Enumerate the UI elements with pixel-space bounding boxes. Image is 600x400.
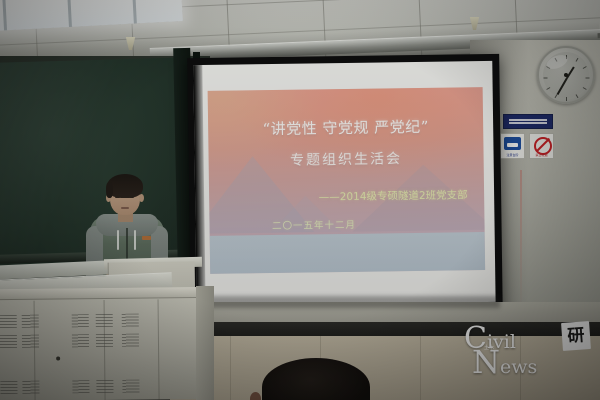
caution-step-sign: 注意台阶	[500, 133, 525, 159]
slide-organization: ——2014级专硕隧道2班党支部	[319, 187, 468, 204]
floor	[170, 336, 600, 400]
photo-scene: 注意台阶 禁止吸烟 “讲党性 守党规 严党纪” 专题组织生活会 ——2014	[0, 0, 600, 400]
front-cabinet	[0, 287, 209, 400]
step-icon	[504, 137, 521, 150]
presenter-hair	[107, 174, 143, 198]
wall-seam	[520, 170, 522, 310]
slide-date: 二〇一五年十二月	[209, 215, 484, 233]
notice-sign	[503, 114, 553, 129]
slide-title: “讲党性 守党规 严党纪”	[208, 115, 483, 140]
clock-hour-hand	[566, 66, 575, 78]
slide-subtitle: 专题组织生活会	[208, 147, 483, 171]
safety-sign-row: 注意台阶 禁止吸烟	[500, 133, 554, 159]
presentation-slide: “讲党性 守党规 严党纪” 专题组织生活会 ——2014级专硕隧道2班党支部 二…	[208, 87, 486, 274]
no-smoking-label: 禁止吸烟	[530, 153, 553, 158]
attendee-ear	[250, 392, 261, 400]
no-smoking-sign: 禁止吸烟	[529, 133, 554, 159]
caution-step-label: 注意台阶	[501, 153, 524, 158]
clock-minute-hand	[557, 78, 568, 95]
cabinet-side-panel	[196, 286, 214, 400]
wall-clock	[537, 46, 595, 104]
screen-surface: “讲党性 守党规 严党纪” 专题组织生活会 ——2014级专硕隧道2班党支部 二…	[193, 61, 495, 306]
projection-screen: “讲党性 守党规 严党纪” 专题组织生活会 ——2014级专硕隧道2班党支部 二…	[187, 54, 503, 320]
